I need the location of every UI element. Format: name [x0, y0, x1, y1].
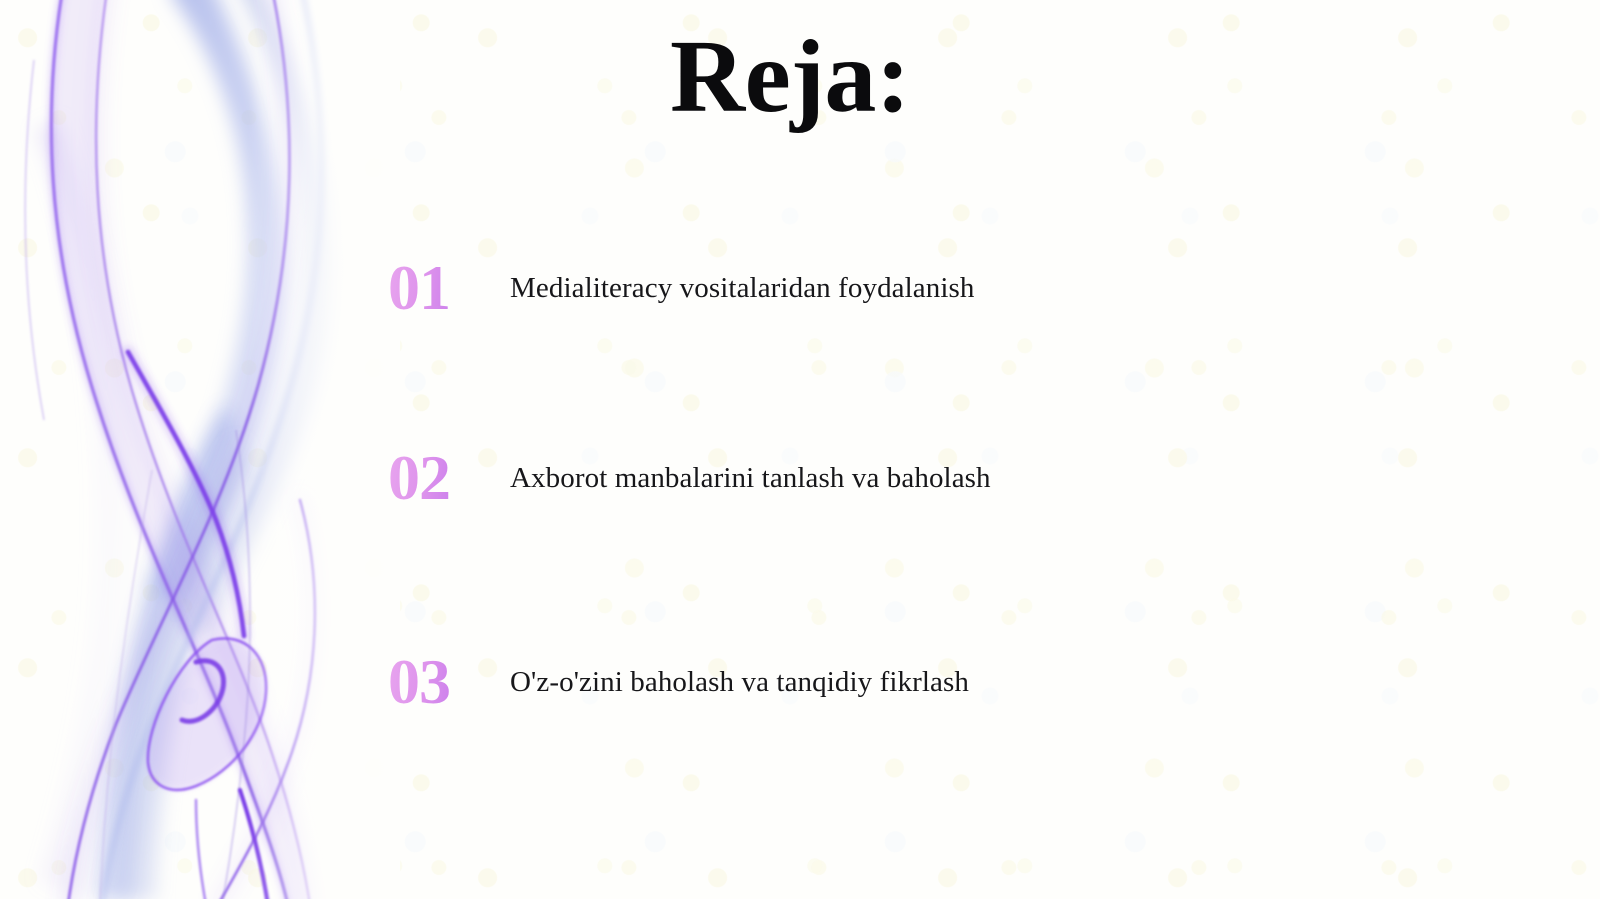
agenda-item-number: 01	[388, 256, 510, 320]
agenda-list: 01 Medialiteracy vositalaridan foydalani…	[0, 0, 1600, 899]
agenda-item: 01 Medialiteracy vositalaridan foydalani…	[388, 252, 975, 324]
agenda-item-text: Axborot manbalarini tanlash va baholash	[510, 460, 991, 496]
agenda-item-text: Medialiteracy vositalaridan foydalanish	[510, 270, 975, 306]
agenda-item-number: 03	[388, 650, 510, 714]
presentation-slide: Reja: 01 Medialiteracy vositalaridan foy…	[0, 0, 1600, 899]
agenda-item-text: O'z-o'zini baholash va tanqidiy fikrlash	[510, 664, 969, 700]
agenda-item: 02 Axborot manbalarini tanlash va bahola…	[388, 442, 991, 514]
agenda-item-number: 02	[388, 446, 510, 510]
agenda-item: 03 O'z-o'zini baholash va tanqidiy fikrl…	[388, 646, 969, 718]
